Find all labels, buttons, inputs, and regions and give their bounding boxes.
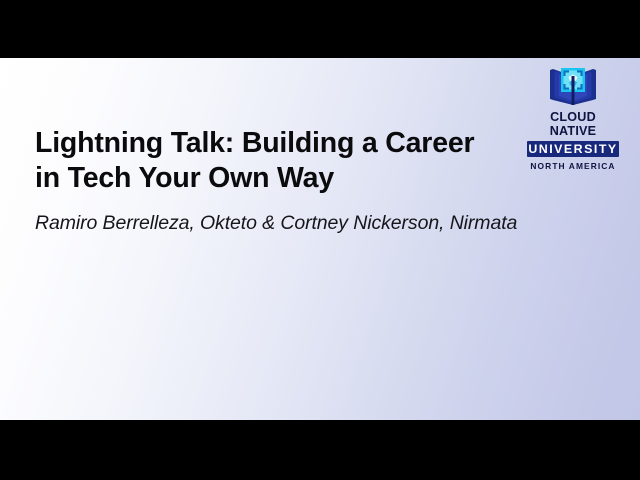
talk-speakers: Ramiro Berrelleza, Okteto & Cortney Nick… <box>35 211 575 235</box>
letterbox-bar-bottom <box>0 420 640 480</box>
logo-university-bar: UNIVERSITY <box>527 141 619 157</box>
talk-title-line-1: Lightning Talk: Building a Career <box>35 126 575 161</box>
open-book-with-kubernetes-helm-icon <box>527 64 619 108</box>
letterbox-bar-top <box>0 0 640 58</box>
cloud-native-university-logo: CLOUD NATIVE UNIVERSITY NORTH AMERICA <box>527 64 619 158</box>
logo-text-region: NORTH AMERICA <box>527 161 619 171</box>
video-frame: Lightning Talk: Building a Career in Tec… <box>0 0 640 480</box>
talk-title-line-2: in Tech Your Own Way <box>35 161 575 196</box>
slide-title-block: Lightning Talk: Building a Career in Tec… <box>35 126 575 235</box>
logo-text-cloud-native: CLOUD NATIVE <box>527 110 619 138</box>
logo-text-university: UNIVERSITY <box>528 142 617 156</box>
